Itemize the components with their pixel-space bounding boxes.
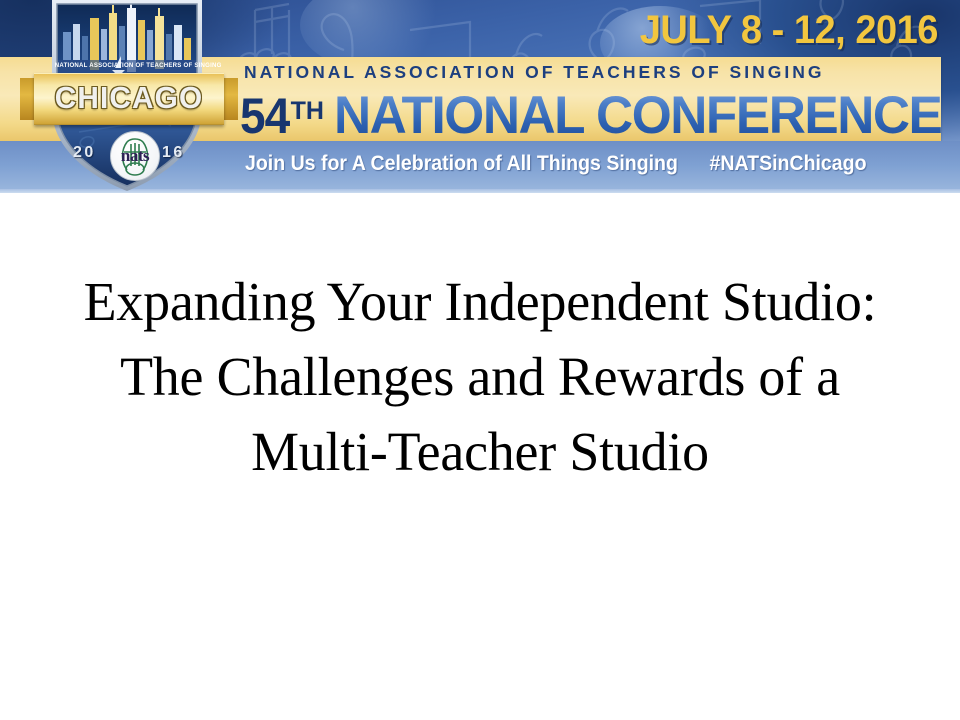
conference-number: 54 [240,87,289,145]
conference-hashtag: #NATSinChicago [710,152,867,175]
shield-association-text: NATIONAL ASSOCIATION OF TEACHERS OF SING… [55,62,199,69]
tagline-text: Join Us for A Celebration of All Things … [245,152,678,175]
chicago-label: CHICAGO [38,73,220,123]
nats-logo-icon: nats [110,131,160,181]
conference-date: JULY 8 - 12, 2016 [640,8,938,53]
year-prefix: 20 [73,144,96,162]
conference-tagline: Join Us for A Celebration of All Things … [245,152,896,176]
nats-wordmark: nats [111,132,159,180]
conference-headline: 54THNATIONAL CONFERENCE [240,82,940,140]
conference-ordinal: TH [291,97,324,125]
year-suffix: 16 [162,144,185,162]
association-name: NATIONAL ASSOCIATION OF TEACHERS OF SING… [244,62,934,82]
presentation-slide: JULY 8 - 12, 2016 NATIONAL ASSOCIATION O… [0,0,960,720]
conference-banner: JULY 8 - 12, 2016 NATIONAL ASSOCIATION O… [0,0,960,193]
conference-title: NATIONAL CONFERENCE [334,87,941,145]
chicago-ribbon: CHICAGO [20,73,238,123]
slide-title: Expanding Your Independent Studio: The C… [80,264,880,489]
